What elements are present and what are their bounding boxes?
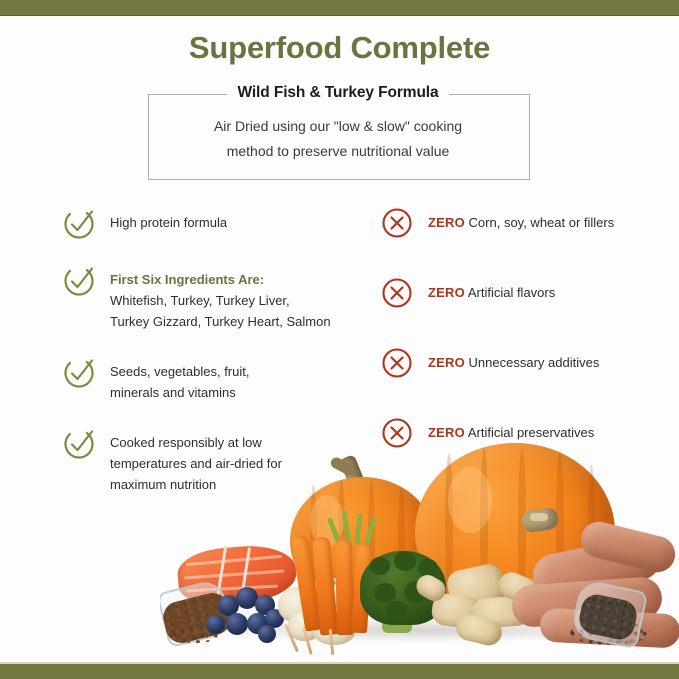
benefit-item: First Six Ingredients Are: Whitefish, Tu…	[62, 263, 362, 332]
callout-body-line-2: method to preserve nutritional value	[148, 139, 528, 164]
formula-callout-heading: Wild Fish & Turkey Formula	[148, 84, 528, 102]
zero-label: ZERO	[428, 355, 465, 370]
infographic-page: Superfood Complete Wild Fish & Turkey Fo…	[0, 0, 679, 679]
top-banner-bar	[0, 0, 679, 15]
benefit-text: Seeds, vegetables, fruit, minerals and v…	[110, 355, 249, 403]
exclusion-item: ZERO Artificial flavors	[380, 276, 670, 310]
benefit-text: First Six Ingredients Are: Whitefish, Tu…	[110, 263, 331, 332]
benefit-line-1: Seeds, vegetables, fruit,	[110, 364, 249, 379]
formula-callout-heading-text: Wild Fish & Turkey Formula	[227, 84, 448, 101]
check-circle-icon	[62, 355, 96, 389]
exclusion-text: ZERO Artificial flavors	[428, 276, 555, 303]
top-banner-edge	[0, 15, 679, 16]
benefit-item: High protein formula	[62, 206, 362, 240]
blueberry	[258, 625, 276, 643]
zero-label: ZERO	[428, 285, 465, 300]
benefit-line-2: Turkey Gizzard, Turkey Heart, Salmon	[110, 314, 331, 329]
exclusion-item: ZERO Unnecessary additives	[380, 346, 670, 380]
check-circle-icon	[62, 426, 96, 460]
blueberry	[206, 615, 225, 634]
benefit-item: Seeds, vegetables, fruit, minerals and v…	[62, 355, 362, 403]
benefit-line-1: High protein formula	[110, 215, 227, 230]
x-circle-icon	[380, 206, 414, 240]
blueberry	[226, 613, 248, 635]
exclusion-detail: Unnecessary additives	[469, 355, 600, 370]
exclusion-detail: Corn, soy, wheat or fillers	[469, 215, 615, 230]
food-ingredients-photo	[160, 425, 679, 662]
formula-callout-body: Air Dried using our "low & slow" cooking…	[148, 114, 528, 164]
x-circle-icon	[380, 276, 414, 310]
x-circle-icon	[380, 346, 414, 380]
exclusion-item: ZERO Corn, soy, wheat or fillers	[380, 206, 670, 240]
check-circle-icon	[62, 263, 96, 297]
benefit-line-1: Whitefish, Turkey, Turkey Liver,	[110, 293, 290, 308]
bottom-banner-bar	[0, 664, 679, 679]
zero-label: ZERO	[428, 215, 465, 230]
benefit-lead: First Six Ingredients Are:	[110, 269, 331, 290]
page-title: Superfood Complete	[0, 30, 679, 66]
exclusion-text: ZERO Corn, soy, wheat or fillers	[428, 206, 614, 233]
exclusion-text: ZERO Unnecessary additives	[428, 346, 599, 373]
benefit-line-2: minerals and vitamins	[110, 385, 236, 400]
callout-body-line-1: Air Dried using our "low & slow" cooking	[148, 114, 528, 139]
exclusion-detail: Artificial flavors	[468, 285, 555, 300]
benefit-text: High protein formula	[110, 206, 227, 233]
check-circle-icon	[62, 206, 96, 240]
